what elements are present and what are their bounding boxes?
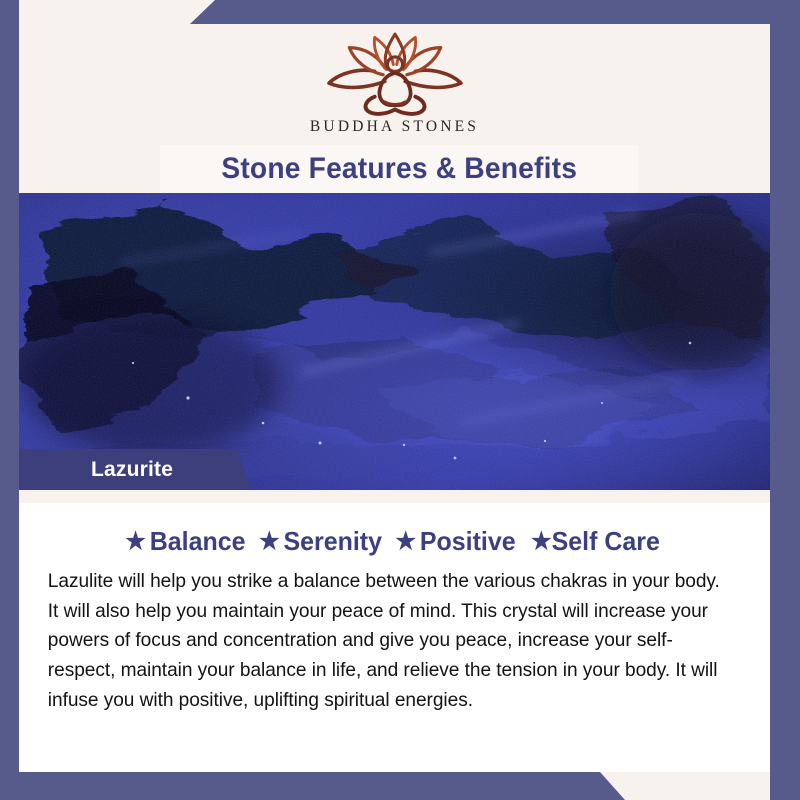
frame-right-border (770, 0, 800, 800)
star-icon: ★ (395, 530, 416, 554)
stone-name-label: Lazurite (91, 458, 173, 482)
content-panel: ★ Balance ★ Serenity ★ Positive ★ Self C… (19, 503, 770, 772)
stone-description: Lazulite will help you strike a balance … (35, 567, 743, 715)
star-icon: ★ (531, 530, 552, 554)
lotus-meditation-figure-icon (310, 29, 480, 117)
stone-photo-image (0, 193, 770, 490)
frame-top-border (0, 0, 800, 24)
keyword-list: ★ Balance ★ Serenity ★ Positive ★ Self C… (49, 526, 739, 557)
keyword-positive: Positive (420, 526, 516, 557)
frame-bottom-border (0, 772, 800, 800)
page-title-text: Stone Features & Benefits (221, 152, 577, 186)
star-icon: ★ (125, 530, 146, 554)
brand-name: BUDDHA STONES (310, 118, 479, 136)
stone-name-banner: Lazurite (19, 449, 251, 490)
keyword-serenity: Serenity (283, 526, 382, 557)
frame-left-border (0, 0, 19, 800)
infographic-card: BUDDHA STONES Stone Features & Benefits (0, 0, 800, 800)
star-icon: ★ (259, 530, 280, 554)
keyword-balance: Balance (150, 526, 246, 557)
divider-strip (19, 490, 770, 503)
brand-header: BUDDHA STONES (19, 24, 770, 145)
stone-photo (0, 193, 770, 490)
page-title: Stone Features & Benefits (160, 145, 638, 193)
keyword-self-care: Self Care (552, 526, 660, 557)
